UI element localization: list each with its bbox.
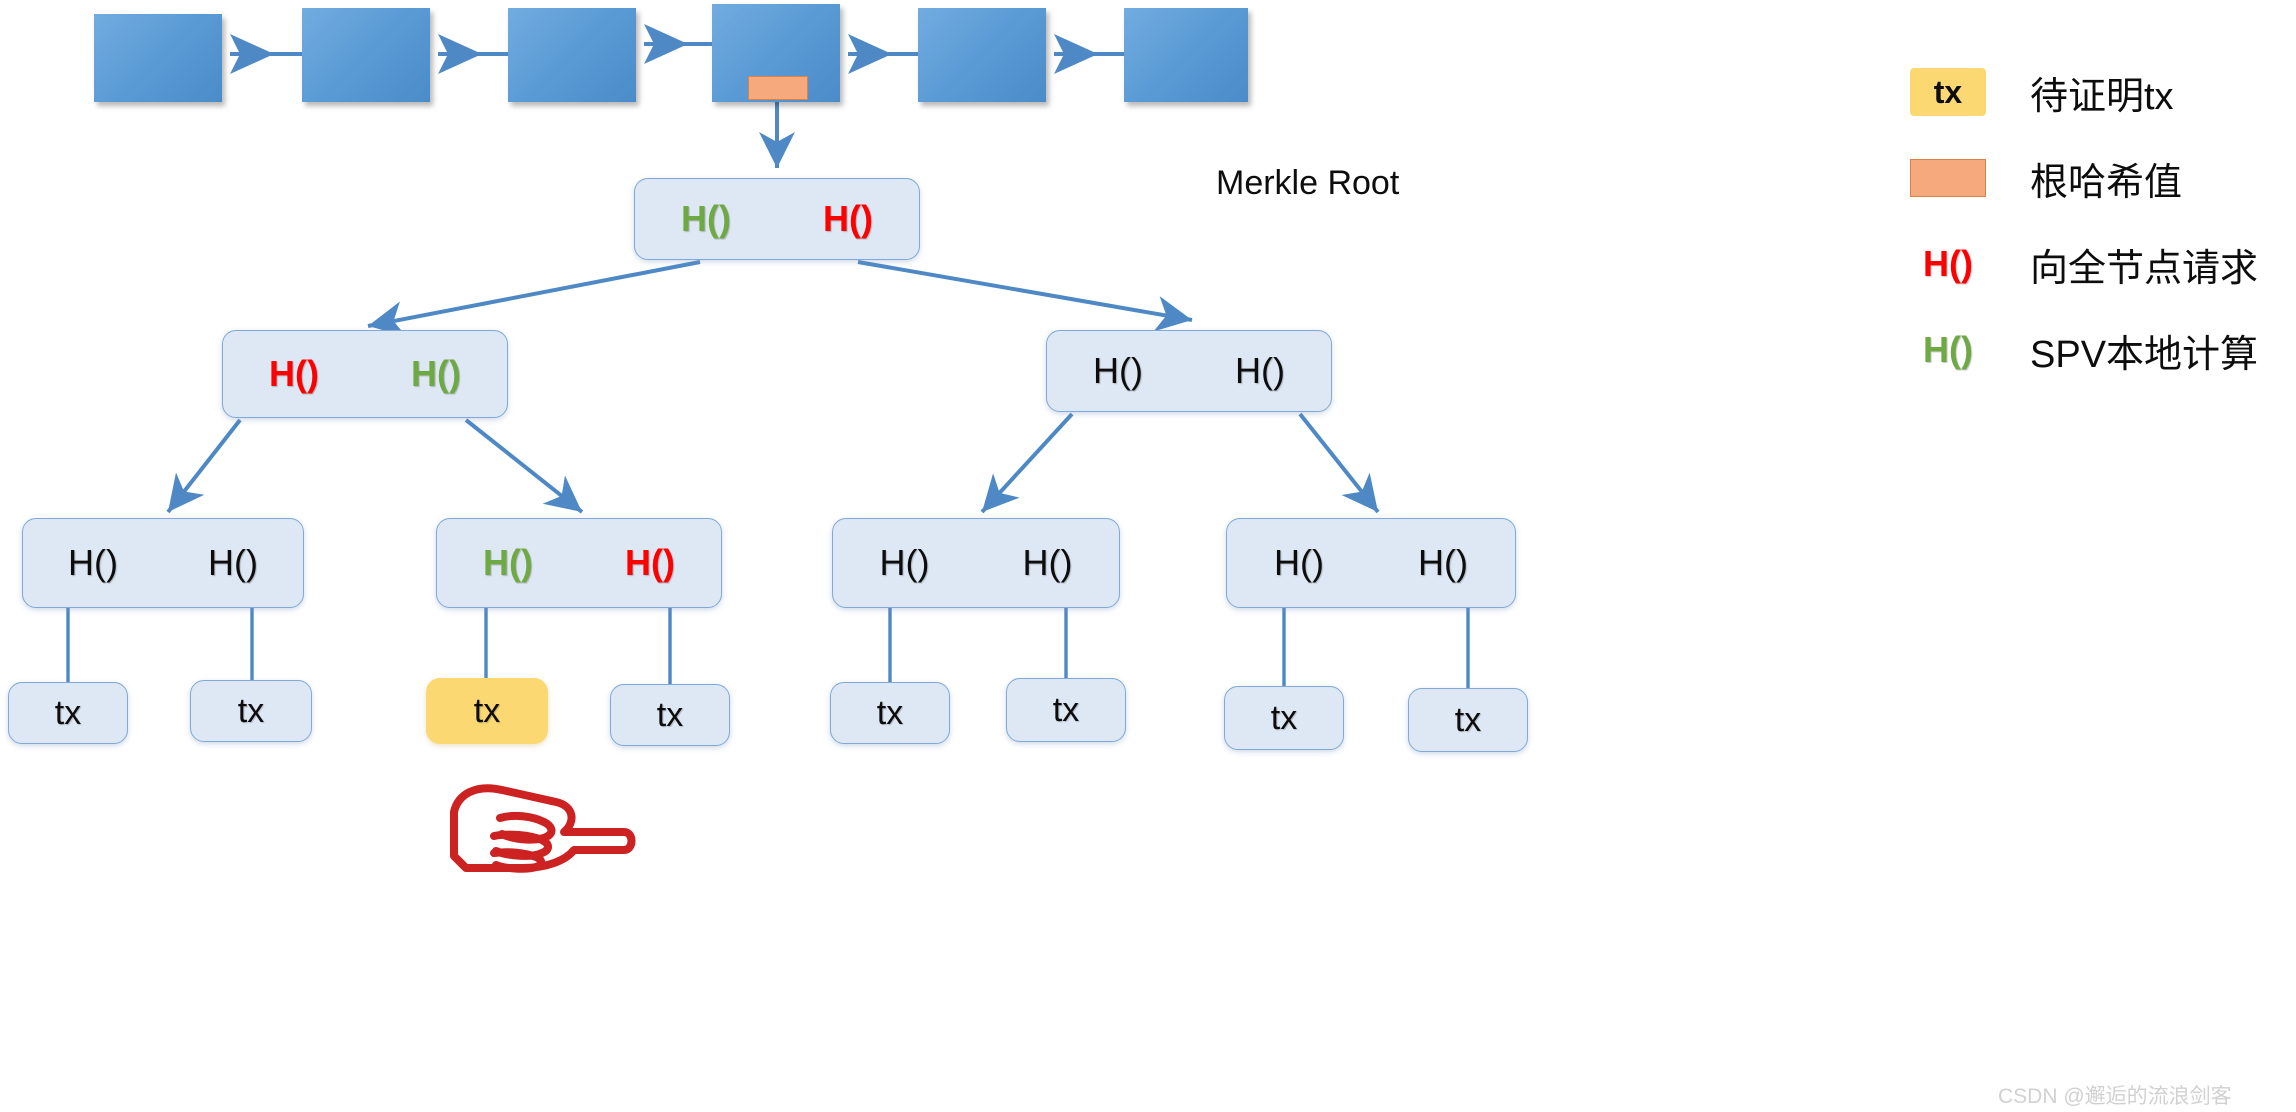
hash-label-red: H() bbox=[625, 545, 675, 581]
leaf-tx: tx bbox=[190, 680, 312, 742]
legend-key-root-hash bbox=[1900, 159, 1996, 197]
legend-row: H()SPV本地计算 bbox=[1900, 318, 2296, 382]
hash-label-black: H() bbox=[68, 545, 118, 581]
hash-label-black: H() bbox=[1235, 353, 1285, 389]
legend-hash-green: H() bbox=[1923, 332, 1973, 368]
legend-key-tx: tx bbox=[1900, 68, 1996, 116]
hash-label-red: H() bbox=[269, 356, 319, 392]
merkle-root-marker bbox=[748, 76, 808, 100]
tree-node-level2: H()H() bbox=[222, 330, 508, 418]
leaf-tx-label: tx bbox=[1053, 691, 1079, 730]
legend-row: H()向全节点请求 bbox=[1900, 232, 2296, 296]
legend: tx待证明tx根哈希值H()向全节点请求H()SPV本地计算 bbox=[1900, 60, 2296, 404]
chain-block bbox=[508, 8, 636, 102]
leaf-tx: tx bbox=[1224, 686, 1344, 750]
legend-label: 待证明tx bbox=[2030, 65, 2174, 120]
tree-node-level3: H()H() bbox=[22, 518, 304, 608]
hash-label-black: H() bbox=[1274, 545, 1324, 581]
leaf-tx: tx bbox=[610, 684, 730, 746]
edge-l2l-to-l3-1 bbox=[168, 420, 240, 512]
merkle-root-label: Merkle Root bbox=[1216, 164, 1399, 203]
leaf-tx-highlighted: tx bbox=[426, 678, 548, 744]
hash-label-black: H() bbox=[1023, 545, 1073, 581]
chain-block bbox=[918, 8, 1046, 102]
legend-label: 向全节点请求 bbox=[2030, 237, 2258, 292]
leaf-tx-label: tx bbox=[657, 696, 683, 735]
legend-swatch-tx: tx bbox=[1910, 68, 1986, 116]
leaf-tx: tx bbox=[830, 682, 950, 744]
leaf-tx-label: tx bbox=[55, 694, 81, 733]
edge-l2l-to-l3-2 bbox=[466, 420, 582, 512]
leaf-tx: tx bbox=[1408, 688, 1528, 752]
legend-key-hash-green: H() bbox=[1900, 332, 1996, 368]
leaf-tx-label: tx bbox=[238, 692, 264, 731]
tree-node-level3: H()H() bbox=[1226, 518, 1516, 608]
legend-label: 根哈希值 bbox=[2030, 151, 2182, 206]
legend-label: SPV本地计算 bbox=[2030, 323, 2258, 378]
legend-key-hash-red: H() bbox=[1900, 246, 1996, 282]
diagram-canvas: Merkle Root H()H()H()H()H()H()H()H()H()H… bbox=[0, 0, 2296, 1112]
tree-node-level3: H()H() bbox=[832, 518, 1120, 608]
hash-label-red: H() bbox=[823, 201, 873, 237]
chain-block bbox=[1124, 8, 1248, 102]
leaf-tx-label: tx bbox=[474, 692, 500, 731]
hash-label-black: H() bbox=[1093, 353, 1143, 389]
hash-label-green: H() bbox=[681, 201, 731, 237]
watermark: CSDN @邂逅的流浪剑客 bbox=[1998, 1080, 2232, 1110]
tree-node-level3: H()H() bbox=[436, 518, 722, 608]
leaf-tx: tx bbox=[1006, 678, 1126, 742]
chain-block bbox=[302, 8, 430, 102]
chain-block bbox=[94, 14, 222, 102]
leaf-tx-label: tx bbox=[1455, 701, 1481, 740]
leaf-tx-label: tx bbox=[877, 694, 903, 733]
edge-root-to-l2-right bbox=[858, 262, 1192, 320]
hash-label-green: H() bbox=[483, 545, 533, 581]
leaf-tx-label: tx bbox=[1271, 699, 1297, 738]
leaf-tx: tx bbox=[8, 682, 128, 744]
tree-node-level2: H()H() bbox=[1046, 330, 1332, 412]
hash-label-black: H() bbox=[880, 545, 930, 581]
pointing-hand-icon bbox=[448, 760, 638, 880]
edge-l2r-to-l3-4 bbox=[1300, 414, 1378, 512]
legend-row: tx待证明tx bbox=[1900, 60, 2296, 124]
legend-swatch-root-hash bbox=[1910, 159, 1986, 197]
hash-label-black: H() bbox=[208, 545, 258, 581]
legend-hash-red: H() bbox=[1923, 246, 1973, 282]
legend-row: 根哈希值 bbox=[1900, 146, 2296, 210]
edge-l2r-to-l3-3 bbox=[982, 414, 1072, 512]
hash-label-green: H() bbox=[411, 356, 461, 392]
hash-label-black: H() bbox=[1418, 545, 1468, 581]
edge-root-to-l2-left bbox=[368, 262, 700, 326]
merkle-root-node: H()H() bbox=[634, 178, 920, 260]
